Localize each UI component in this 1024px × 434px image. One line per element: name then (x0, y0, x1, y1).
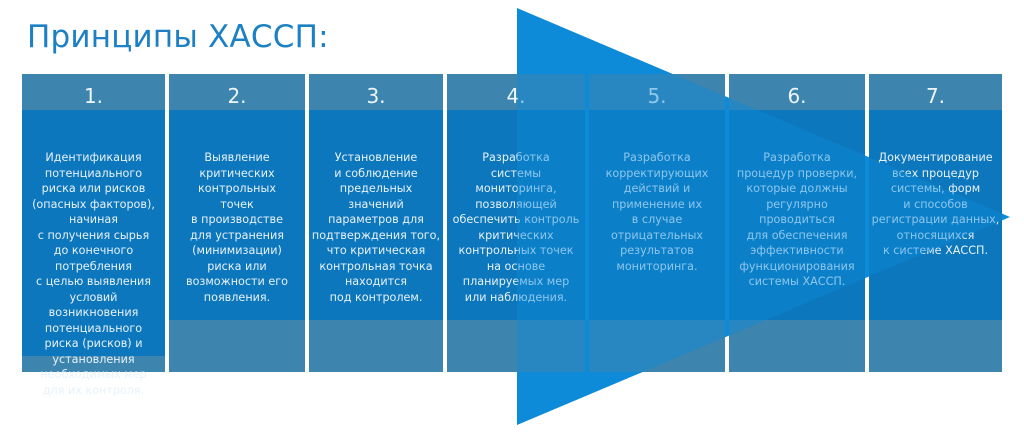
process-arrow-overlay (0, 0, 1024, 434)
infographic-canvas: 1. Идентификация потенциального риска ил… (0, 0, 1024, 434)
